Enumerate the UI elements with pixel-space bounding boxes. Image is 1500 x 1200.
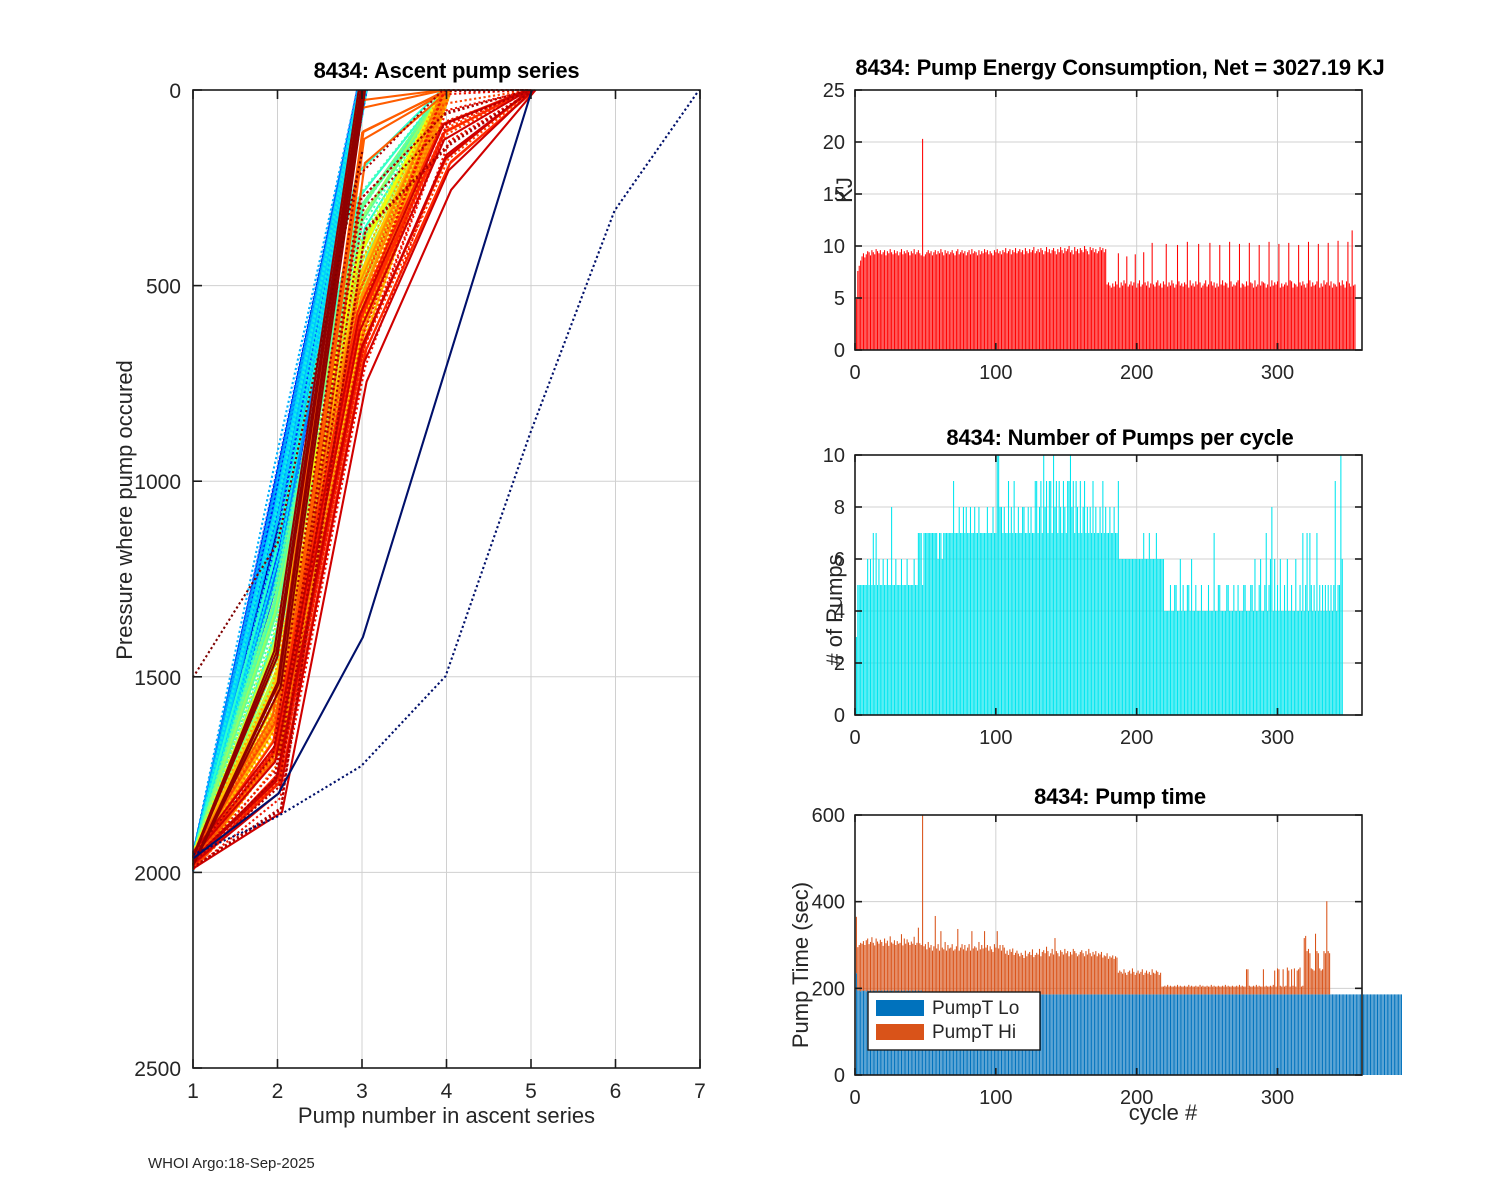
bar: [1291, 585, 1292, 715]
bar: [1261, 611, 1262, 715]
bar: [1128, 994, 1129, 1075]
bar: [1001, 951, 1002, 997]
bar: [998, 253, 999, 350]
bar: [1236, 986, 1237, 995]
bar: [1136, 288, 1137, 350]
bar: [969, 944, 970, 996]
bar: [1233, 585, 1234, 715]
bar: [1267, 987, 1268, 995]
bar: [1305, 994, 1306, 1075]
x-tick-label: 1: [187, 1080, 199, 1103]
y-tick-label: 600: [812, 805, 845, 827]
bar: [1026, 956, 1027, 996]
bar: [1022, 250, 1023, 350]
y-tick-label: 0: [834, 705, 845, 727]
bar: [1364, 994, 1365, 1075]
bar: [1271, 994, 1272, 1075]
bar: [1191, 986, 1192, 995]
bar: [976, 948, 977, 997]
bar: [887, 559, 888, 715]
bar: [901, 559, 902, 715]
bar: [1191, 286, 1192, 350]
bar: [856, 299, 857, 350]
bar: [971, 249, 972, 350]
bar: [1316, 281, 1317, 350]
bar: [1102, 248, 1103, 350]
bar: [909, 945, 910, 991]
bar: [1191, 994, 1192, 1075]
bar: [1335, 284, 1336, 350]
bar: [919, 943, 920, 991]
bar: [945, 250, 946, 350]
bar: [1194, 287, 1195, 350]
bar: [1235, 286, 1236, 350]
bar: [1108, 282, 1109, 350]
bar: [866, 991, 867, 1075]
bar: [1195, 585, 1196, 715]
bar: [890, 249, 891, 350]
bar: [1115, 994, 1116, 1075]
bar: [1052, 250, 1053, 350]
bar: [1161, 288, 1162, 350]
bar: [1181, 611, 1182, 715]
bar: [1367, 994, 1368, 1075]
bar: [1316, 994, 1317, 1075]
bar: [1204, 994, 1205, 1075]
bar: [974, 946, 975, 996]
bar: [1142, 284, 1143, 350]
bar: [1288, 994, 1289, 1075]
bar: [936, 254, 937, 350]
bar: [1264, 283, 1265, 350]
bar: [1321, 611, 1322, 715]
bar: [1025, 248, 1026, 350]
bar: [1309, 533, 1310, 715]
bar: [1007, 951, 1008, 997]
bar: [1078, 253, 1079, 350]
bar: [1245, 287, 1246, 350]
bar: [1033, 957, 1034, 996]
bar: [1343, 994, 1344, 1075]
bar: [1340, 994, 1341, 1075]
bar: [1233, 994, 1234, 1075]
bar: [1053, 955, 1054, 995]
bar: [1378, 994, 1379, 1075]
bar: [1259, 986, 1260, 995]
bar: [943, 255, 944, 350]
bar: [1294, 611, 1295, 715]
bar: [960, 533, 961, 715]
bar: [1004, 507, 1005, 715]
bar: [1071, 507, 1072, 715]
bar: [1116, 958, 1117, 995]
bar: [1253, 288, 1254, 350]
bar: [1302, 986, 1303, 995]
bar: [863, 991, 864, 1075]
legend-swatch: [876, 1000, 924, 1016]
bar: [1302, 281, 1303, 350]
bar: [885, 585, 886, 715]
bar: [1026, 251, 1027, 350]
y-tick-label: 200: [812, 978, 845, 1000]
bar: [1205, 987, 1206, 995]
bar: [1329, 994, 1330, 1075]
bar: [1370, 994, 1371, 1075]
bar: [1085, 994, 1086, 1075]
bar: [1112, 994, 1113, 1075]
bar: [1184, 994, 1185, 1075]
bar: [860, 261, 861, 350]
bar: [898, 255, 899, 350]
bar: [1084, 481, 1085, 715]
bar: [1064, 248, 1065, 350]
bar: [1060, 994, 1061, 1075]
bar: [1074, 247, 1075, 350]
bar: [1135, 975, 1136, 995]
bar: [876, 533, 877, 715]
bar: [1011, 952, 1012, 996]
bar: [956, 946, 957, 996]
bar: [966, 507, 967, 715]
bar: [1022, 955, 1023, 996]
bar: [1226, 987, 1227, 995]
bar: [1314, 994, 1315, 1075]
bar: [1070, 994, 1071, 1075]
bar: [1094, 252, 1095, 350]
bar: [942, 948, 943, 997]
bar: [1256, 611, 1257, 715]
bar: [1249, 243, 1250, 350]
bar: [1090, 953, 1091, 994]
bar: [1190, 987, 1191, 995]
bar: [1380, 994, 1381, 1075]
bar: [881, 254, 882, 350]
bar: [1067, 951, 1068, 994]
bar: [1360, 994, 1361, 1075]
bar: [1002, 945, 1003, 996]
bar: [950, 948, 951, 997]
bar: [1045, 507, 1046, 715]
bar: [901, 934, 902, 990]
bar: [959, 951, 960, 997]
bar: [864, 945, 865, 991]
bar: [1231, 281, 1232, 350]
bar: [1332, 288, 1333, 350]
bar: [1115, 281, 1116, 350]
bar: [1314, 585, 1315, 715]
bar: [922, 585, 923, 715]
bar: [1312, 611, 1313, 715]
bar: [957, 533, 958, 715]
bar: [1015, 248, 1016, 350]
bar: [1005, 954, 1006, 996]
bar: [1097, 253, 1098, 350]
bar: [1063, 955, 1064, 995]
bar: [962, 250, 963, 350]
bar: [1105, 249, 1106, 350]
bar: [1056, 951, 1057, 994]
bar: [857, 947, 858, 990]
bar: [1221, 611, 1222, 715]
bar: [1233, 987, 1234, 995]
bar: [895, 945, 896, 991]
bar: [1350, 287, 1351, 350]
bar: [1269, 987, 1270, 995]
bar: [1040, 248, 1041, 350]
bar: [1149, 972, 1150, 995]
bar: [919, 533, 920, 715]
bar: [1002, 533, 1003, 715]
bar: [1184, 282, 1185, 350]
bar: [1242, 994, 1243, 1075]
bar: [1350, 994, 1351, 1075]
bar: [977, 533, 978, 715]
bar: [918, 533, 919, 715]
bar: [940, 931, 941, 996]
bar: [1195, 986, 1196, 995]
bar: [959, 507, 960, 715]
bar: [1221, 284, 1222, 350]
bar: [1025, 533, 1026, 715]
bar: [1211, 611, 1212, 715]
bar: [915, 585, 916, 715]
bar: [1202, 986, 1203, 995]
bar: [1259, 585, 1260, 715]
bar: [1001, 507, 1002, 715]
bar: [1128, 972, 1129, 995]
bar: [983, 533, 984, 715]
x-tick-label: 100: [979, 362, 1012, 384]
bar: [863, 253, 864, 350]
bar: [1159, 286, 1160, 350]
x-tick-label: 200: [1120, 362, 1153, 384]
x-tick-label: 100: [979, 727, 1012, 749]
bar: [1019, 956, 1020, 996]
bar: [1083, 994, 1084, 1075]
bar: [1116, 994, 1117, 1075]
bar: [1011, 254, 1012, 350]
bar: [960, 948, 961, 997]
bar: [1254, 559, 1255, 715]
bar: [1318, 611, 1319, 715]
bar: [880, 940, 881, 991]
bar: [871, 937, 872, 991]
bar: [893, 585, 894, 715]
bar: [1328, 951, 1329, 994]
bar: [1140, 972, 1141, 995]
bar: [1156, 994, 1157, 1075]
bar: [1270, 287, 1271, 350]
bar: [876, 939, 877, 991]
bar: [1214, 986, 1215, 995]
bar: [1077, 507, 1078, 715]
bar: [1222, 994, 1223, 1075]
bar: [1129, 994, 1130, 1075]
bar: [1166, 987, 1167, 995]
bar: [1242, 611, 1243, 715]
bar: [1016, 533, 1017, 715]
bar: [1064, 507, 1065, 715]
bar: [1221, 987, 1222, 995]
bar: [1212, 611, 1213, 715]
bar: [866, 940, 867, 991]
bar: [1063, 994, 1064, 1075]
bar: [862, 585, 863, 715]
bar: [1188, 585, 1189, 715]
bar: [1091, 994, 1092, 1075]
bar: [957, 249, 958, 350]
bar: [939, 951, 940, 997]
bar: [963, 949, 964, 996]
bar: [1277, 281, 1278, 350]
bar: [912, 944, 913, 991]
bar: [1171, 280, 1172, 350]
bar: [1235, 987, 1236, 995]
bar: [1060, 247, 1061, 350]
bar: [978, 507, 979, 715]
bar: [1108, 994, 1109, 1075]
bar: [1252, 987, 1253, 995]
bar: [974, 251, 975, 350]
bar: [1395, 994, 1396, 1075]
bar: [1104, 252, 1105, 350]
bar: [1339, 585, 1340, 715]
bar: [856, 917, 857, 973]
bar: [1094, 955, 1095, 995]
bar: [1340, 455, 1341, 715]
bar: [1308, 242, 1309, 350]
bar: [952, 944, 953, 996]
bar: [1304, 938, 1305, 994]
bar: [1226, 994, 1227, 1075]
bar: [1109, 994, 1110, 1075]
bar: [916, 943, 917, 992]
bar: [1346, 994, 1347, 1075]
bar: [870, 255, 871, 350]
bar: [884, 250, 885, 350]
bar: [1074, 951, 1075, 994]
bar: [1302, 994, 1303, 1075]
bar: [991, 253, 992, 350]
bar: [1253, 994, 1254, 1075]
bar: [1216, 611, 1217, 715]
bar: [1069, 994, 1070, 1075]
bar: [918, 250, 919, 350]
bar: [1264, 994, 1265, 1075]
bar: [1059, 994, 1060, 1075]
bar: [1205, 611, 1206, 715]
bar: [859, 266, 860, 350]
bar: [1381, 994, 1382, 1075]
bar: [1346, 281, 1347, 350]
bar: [1035, 481, 1036, 715]
bar: [973, 533, 974, 715]
bar: [1252, 283, 1253, 350]
bar: [1028, 954, 1029, 996]
bar: [1147, 974, 1148, 995]
bar: [973, 948, 974, 996]
bar: [1339, 282, 1340, 350]
x-tick-label: 4: [441, 1080, 453, 1103]
bar: [1009, 249, 1010, 350]
bar: [856, 637, 857, 715]
bar: [939, 533, 940, 715]
bar: [1249, 986, 1250, 995]
bar: [1133, 559, 1134, 715]
bar: [900, 585, 901, 715]
bar: [1309, 280, 1310, 350]
bar: [1208, 994, 1209, 1075]
bar: [1039, 949, 1040, 995]
bar: [1223, 286, 1224, 350]
bar: [863, 941, 864, 991]
bar: [902, 585, 903, 715]
bar: [1012, 533, 1013, 715]
bar: [1347, 242, 1348, 350]
bar: [1250, 987, 1251, 995]
bar: [1201, 994, 1202, 1075]
bar: [935, 916, 936, 996]
bar: [991, 533, 992, 715]
bar: [1249, 611, 1250, 715]
bar: [1218, 287, 1219, 350]
bar: [1067, 481, 1068, 715]
bar: [1328, 243, 1329, 350]
bar: [1014, 955, 1015, 996]
bar: [1240, 987, 1241, 995]
bar: [1300, 994, 1301, 1075]
bar: [1154, 559, 1155, 715]
bar: [1070, 252, 1071, 350]
bar: [1090, 247, 1091, 350]
x-tick-label: 300: [1261, 1087, 1294, 1109]
bar: [936, 533, 937, 715]
bar: [1280, 986, 1281, 995]
bar: [970, 254, 971, 350]
bar: [1119, 971, 1120, 995]
bar: [1307, 951, 1308, 994]
bar: [1150, 994, 1151, 1075]
bar: [1050, 994, 1051, 1075]
bar: [1171, 987, 1172, 995]
bar: [1174, 585, 1175, 715]
bar: [1238, 987, 1239, 995]
bar: [1373, 994, 1374, 1075]
bar: [1329, 953, 1330, 994]
bar: [926, 252, 927, 350]
bar: [1105, 507, 1106, 715]
bar: [902, 254, 903, 350]
bar: [1183, 987, 1184, 995]
bar: [1145, 973, 1146, 995]
bar: [1098, 251, 1099, 350]
bar: [1263, 282, 1264, 350]
bar: [1076, 251, 1077, 350]
bar: [1270, 559, 1271, 715]
bar: [992, 255, 993, 350]
bar: [1125, 283, 1126, 350]
bar: [1212, 987, 1213, 995]
bar: [1228, 986, 1229, 995]
bar: [1015, 953, 1016, 996]
bar: [1043, 950, 1044, 994]
bar: [1078, 994, 1079, 1075]
bar: [1002, 250, 1003, 350]
bar: [981, 945, 982, 996]
bar: [932, 533, 933, 715]
bar: [1277, 585, 1278, 715]
bar: [1031, 955, 1032, 996]
